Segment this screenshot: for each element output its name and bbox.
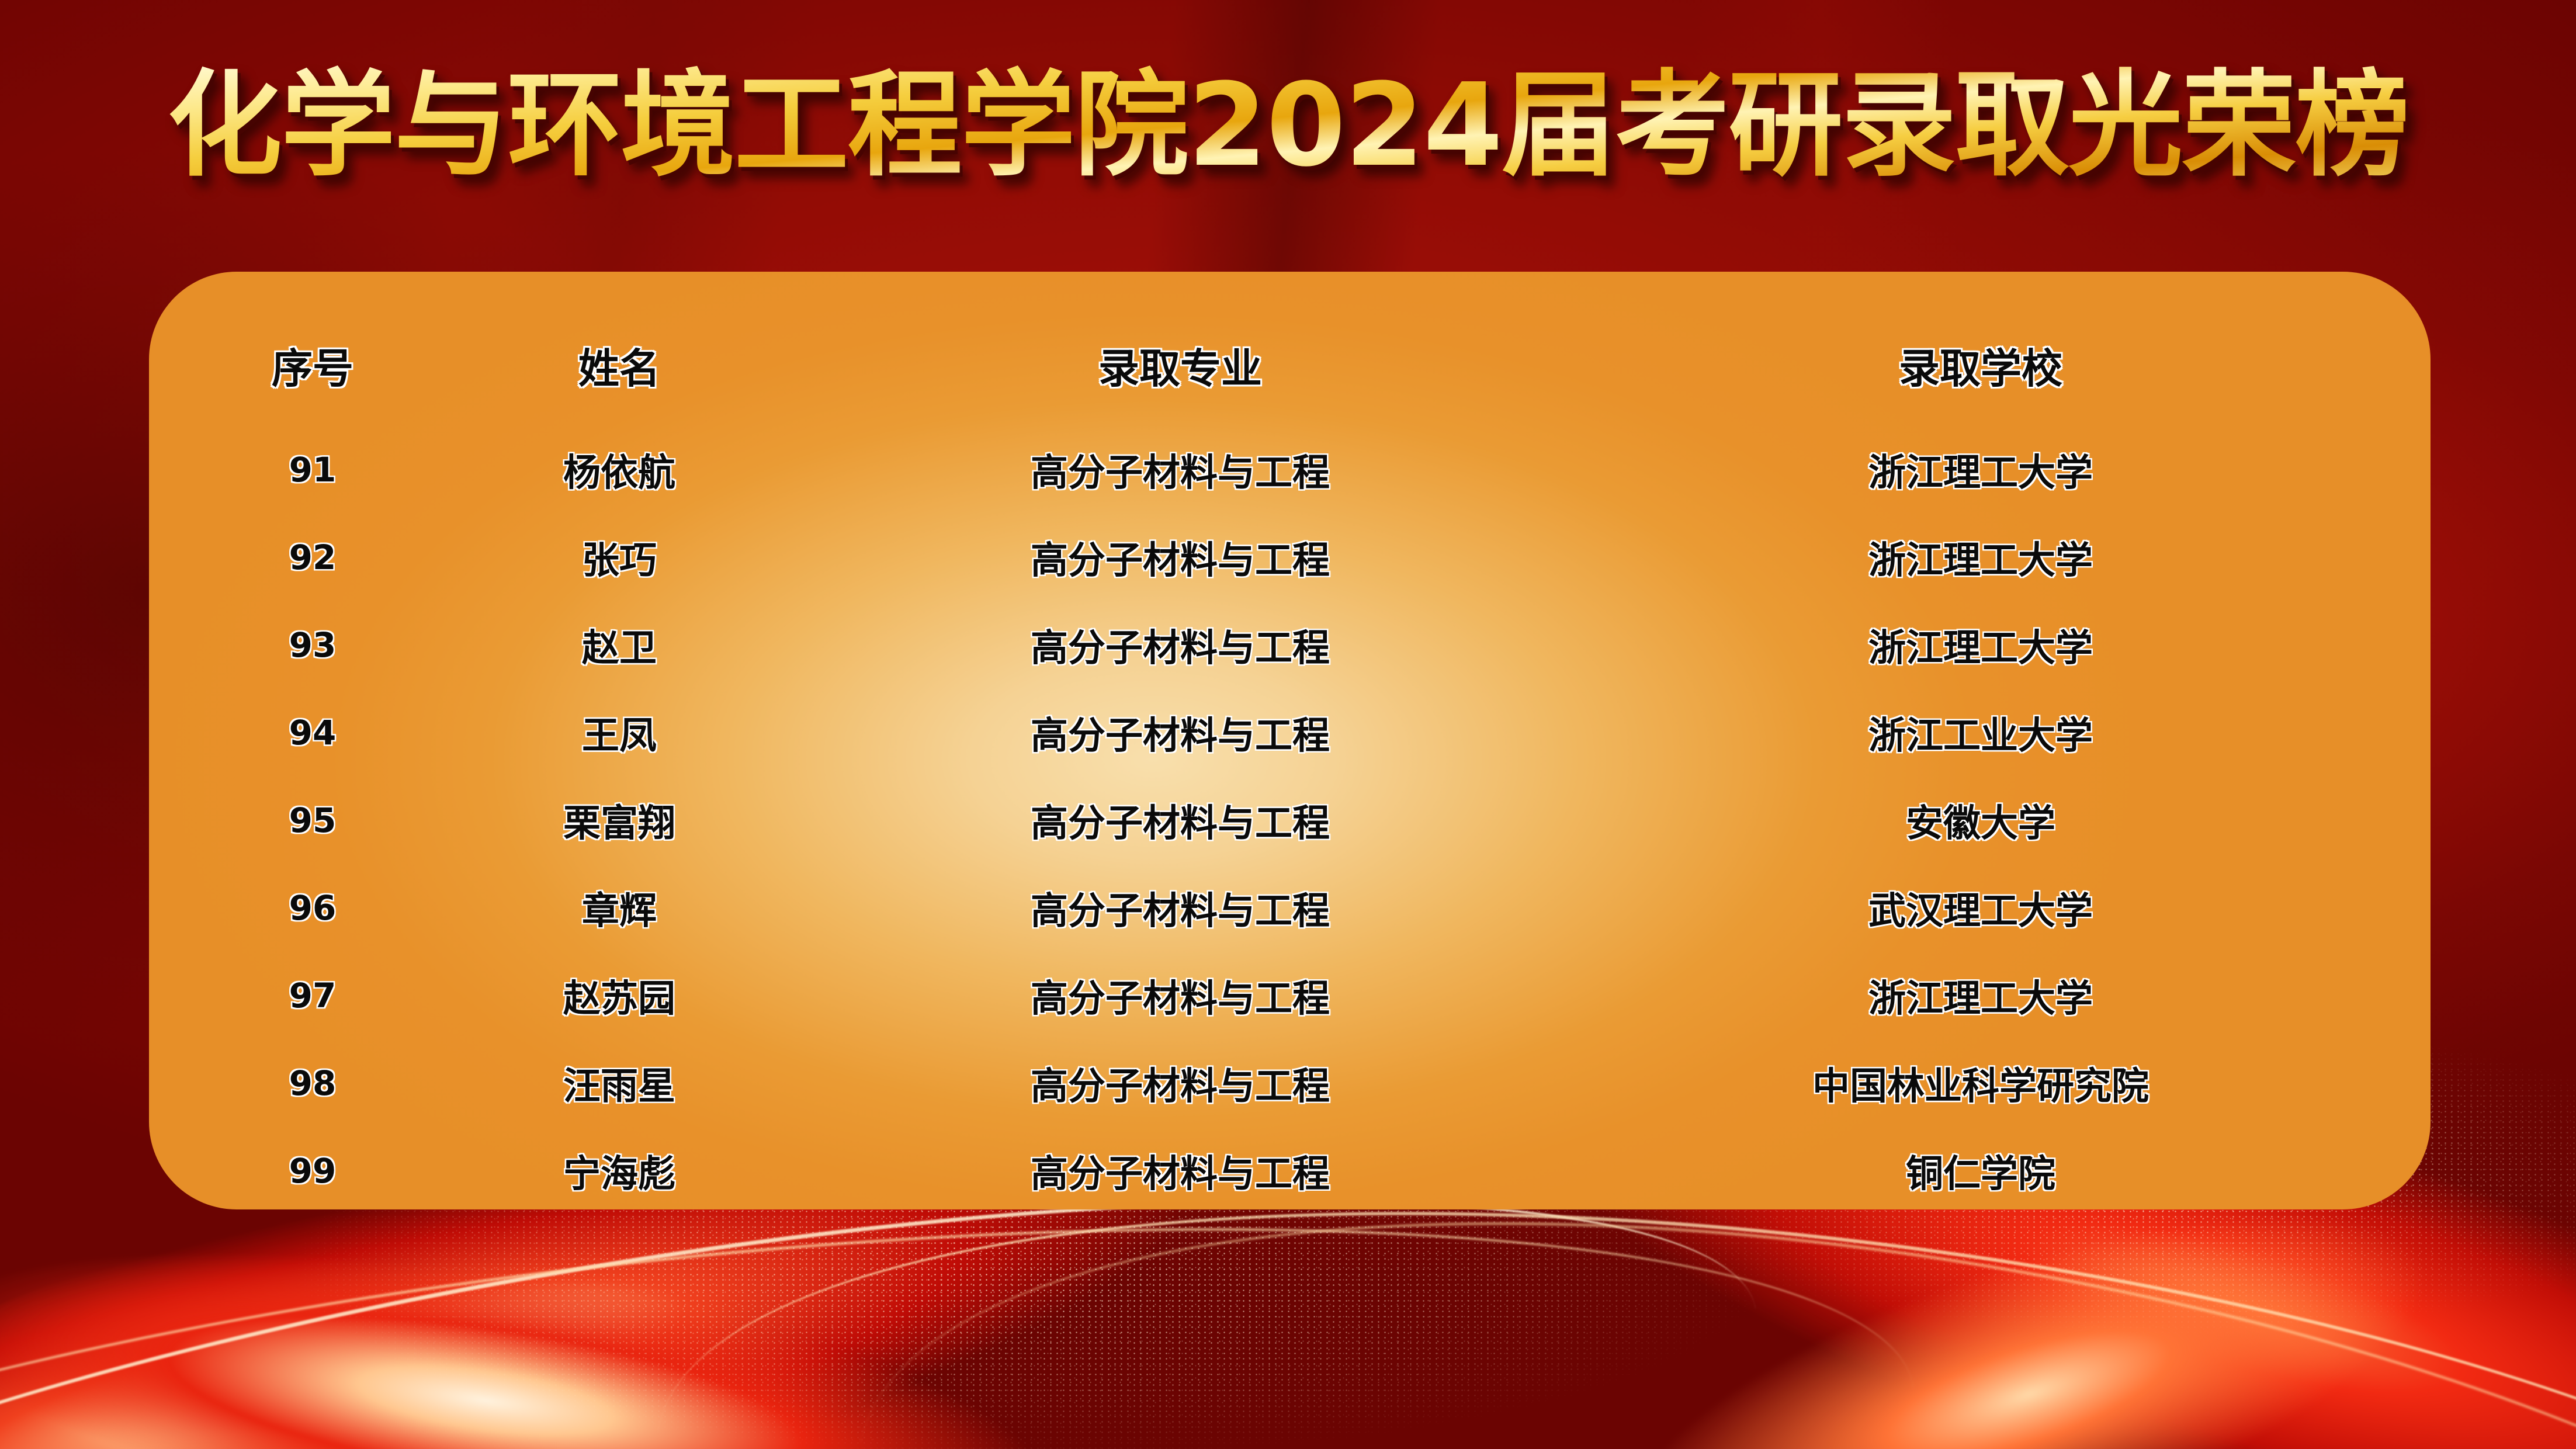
table-row: 98 汪雨星 高分子材料与工程 中国林业科学研究院 [149, 1052, 2431, 1115]
header-school: 录取学校 [1578, 336, 2384, 395]
table-row: 96 章辉 高分子材料与工程 武汉理工大学 [149, 876, 2431, 940]
table-row: 97 赵苏园 高分子材料与工程 浙江理工大学 [149, 964, 2431, 1027]
cell-school: 浙江理工大学 [1578, 531, 2384, 584]
cell-major: 高分子材料与工程 [783, 1144, 1578, 1198]
cell-major: 高分子材料与工程 [783, 531, 1578, 584]
cell-major: 高分子材料与工程 [783, 706, 1578, 760]
cell-school: 铜仁学院 [1578, 1144, 2384, 1198]
roster-panel: 序号 姓名 录取专业 录取学校 91 杨依航 高分子材料与工程 浙江理工大学 9… [149, 272, 2431, 1209]
table-row: 93 赵卫 高分子材料与工程 浙江理工大学 [149, 613, 2431, 677]
admissions-table: 序号 姓名 录取专业 录取学校 91 杨依航 高分子材料与工程 浙江理工大学 9… [149, 272, 2431, 1209]
cell-school: 中国林业科学研究院 [1578, 1056, 2384, 1110]
cell-school: 武汉理工大学 [1578, 881, 2384, 935]
cell-no: 93 [169, 625, 456, 665]
cell-major: 高分子材料与工程 [783, 618, 1578, 672]
cell-no: 97 [169, 976, 456, 1015]
cell-school: 浙江理工大学 [1578, 969, 2384, 1022]
table-row: 92 张巧 高分子材料与工程 浙江理工大学 [149, 526, 2431, 589]
cell-name: 杨依航 [456, 443, 783, 497]
table-row: 91 杨依航 高分子材料与工程 浙江理工大学 [149, 438, 2431, 501]
cell-name: 宁海彪 [456, 1144, 783, 1198]
cell-major: 高分子材料与工程 [783, 793, 1578, 847]
cell-name: 栗富翔 [456, 793, 783, 847]
cell-no: 94 [169, 713, 456, 753]
cell-school: 浙江理工大学 [1578, 443, 2384, 497]
cell-name: 章辉 [456, 881, 783, 935]
cell-no: 95 [169, 800, 456, 840]
table-header-row: 序号 姓名 录取专业 录取学校 [149, 330, 2431, 400]
cell-school: 浙江工业大学 [1578, 706, 2384, 760]
cell-major: 高分子材料与工程 [783, 1056, 1578, 1110]
header-no: 序号 [169, 336, 456, 395]
cell-name: 赵苏园 [456, 969, 783, 1022]
cell-major: 高分子材料与工程 [783, 881, 1578, 935]
table-row: 94 王凤 高分子材料与工程 浙江工业大学 [149, 701, 2431, 764]
cell-name: 王凤 [456, 706, 783, 760]
cell-name: 张巧 [456, 531, 783, 584]
cell-school: 安徽大学 [1578, 793, 2384, 847]
cell-no: 98 [169, 1063, 456, 1103]
table-row: 99 宁海彪 高分子材料与工程 铜仁学院 [149, 1139, 2431, 1202]
cell-no: 91 [169, 450, 456, 490]
cell-major: 高分子材料与工程 [783, 969, 1578, 1022]
poster-title-text: 化学与环境工程学院2024届考研录取光荣榜 [168, 65, 2409, 187]
cell-name: 赵卫 [456, 618, 783, 672]
cell-school: 浙江理工大学 [1578, 618, 2384, 672]
cell-name: 汪雨星 [456, 1056, 783, 1110]
poster-title: 化学与环境工程学院2024届考研录取光荣榜 [0, 65, 2576, 187]
cell-no: 96 [169, 888, 456, 928]
cell-major: 高分子材料与工程 [783, 443, 1578, 497]
table-row: 95 栗富翔 高分子材料与工程 安徽大学 [149, 789, 2431, 852]
cell-no: 92 [169, 538, 456, 577]
cell-no: 99 [169, 1151, 456, 1191]
header-major: 录取专业 [783, 336, 1578, 395]
header-name: 姓名 [456, 336, 783, 395]
